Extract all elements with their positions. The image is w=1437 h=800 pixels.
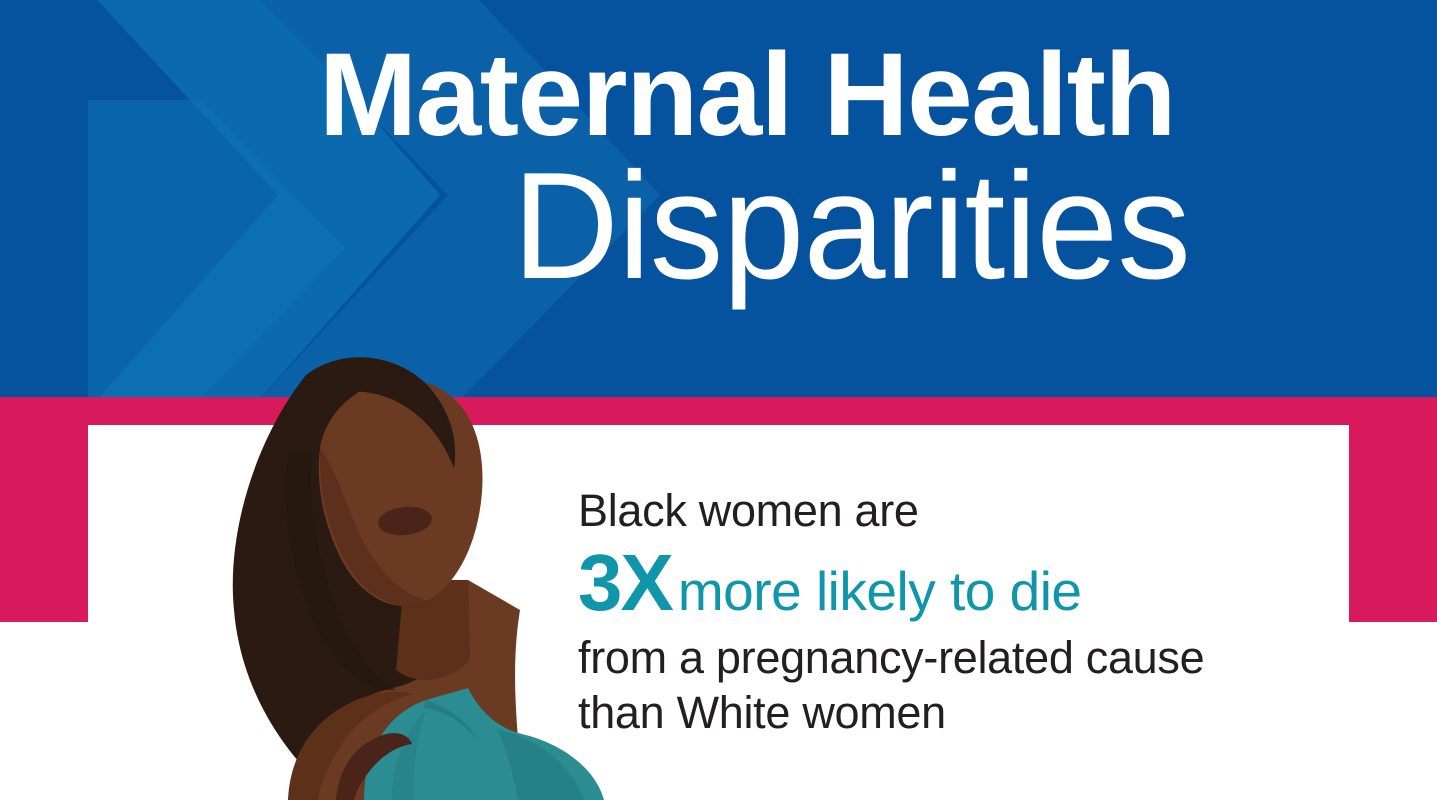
woman-illustration-svg [168, 330, 608, 800]
stat-tail-text: from a pregnancy-related cause than Whit… [578, 631, 1278, 741]
stat-headline-row: 3Xmore likely to die [578, 543, 1278, 623]
statistic-block: Black women are 3Xmore likely to die fro… [578, 487, 1278, 741]
stat-phrase: more likely to die [678, 560, 1082, 622]
stat-multiplier: 3X [578, 538, 672, 627]
woman-illustration [168, 330, 608, 800]
stat-tail-line-1: from a pregnancy-related cause [578, 631, 1278, 686]
infographic-canvas: Maternal Health Disparities [0, 0, 1437, 800]
stat-lead-text: Black women are [578, 487, 1278, 534]
stat-tail-line-2: than White women [578, 686, 1278, 741]
